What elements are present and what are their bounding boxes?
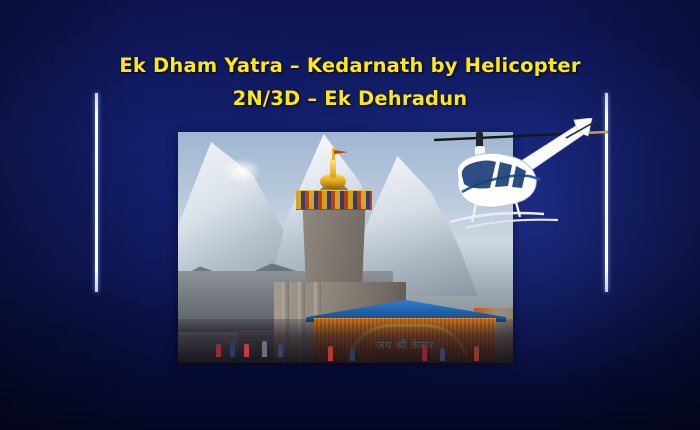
temple-kalash [330, 158, 336, 178]
skid-strut-left [472, 204, 476, 222]
landing-skid-rear [466, 220, 558, 228]
pilgrim-crowd [178, 319, 513, 363]
page-subtitle: 2N/3D – Ek Dehradun [0, 89, 700, 109]
pilgrim-figure [262, 341, 267, 357]
pilgrim-figure [474, 346, 479, 361]
pilgrim-figure [440, 348, 445, 361]
promo-banner: Ek Dham Yatra – Kedarnath by Helicopter … [0, 0, 700, 430]
helicopter-icon [432, 118, 612, 248]
title-block: Ek Dham Yatra – Kedarnath by Helicopter … [0, 56, 700, 110]
pilgrim-figure [244, 344, 249, 357]
skid-strut-right [516, 202, 520, 217]
pilgrim-figure [230, 342, 235, 357]
pilgrim-figure [216, 344, 221, 357]
page-title: Ek Dham Yatra – Kedarnath by Helicopter [0, 56, 700, 76]
rotor-hub [476, 132, 483, 148]
pilgrim-figure [278, 344, 283, 357]
pilgrim-figure [350, 348, 355, 361]
pilgrim-figure [328, 346, 333, 361]
left-divider-rule [95, 93, 98, 292]
snow-highlight [222, 158, 262, 184]
pilgrim-figure [422, 345, 427, 361]
temple-decorative-band [296, 190, 372, 210]
